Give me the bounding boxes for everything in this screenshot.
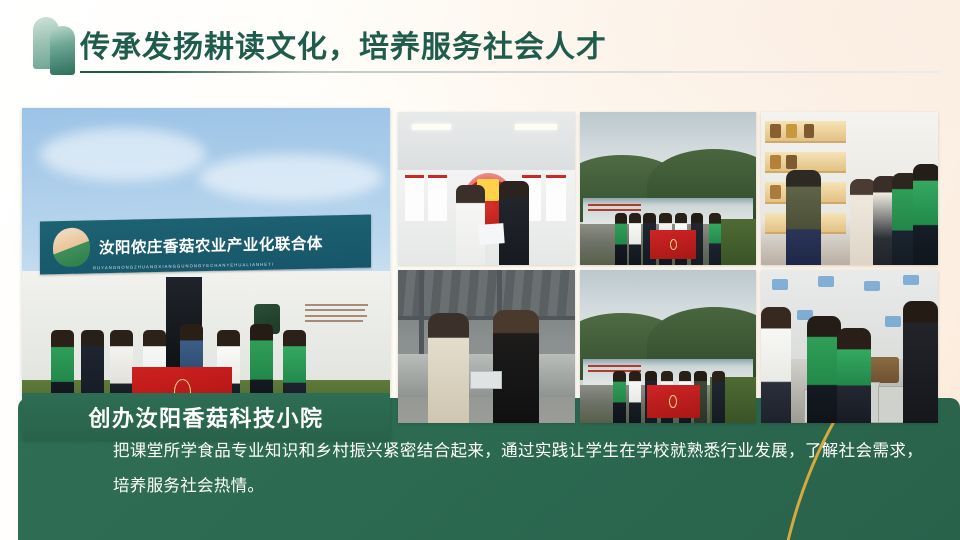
photo-person — [493, 310, 539, 423]
product-item — [786, 155, 797, 169]
photo-shed-text — [588, 365, 641, 367]
photo-party-wall-ceremony[interactable] — [398, 112, 575, 265]
double-bar-icon — [33, 17, 77, 75]
photo-person — [903, 301, 938, 423]
photo-banner-emblem — [670, 239, 677, 251]
ceiling-light — [515, 124, 557, 130]
wall-poster — [546, 175, 565, 221]
backdrop-logo — [864, 281, 880, 292]
photo-person — [613, 371, 625, 423]
cloud — [199, 154, 383, 200]
backdrop-logo — [818, 276, 834, 287]
photo-person — [913, 164, 938, 265]
photo-person — [807, 316, 841, 423]
photo-red-banner — [647, 385, 700, 419]
photo-warehouse-handover[interactable] — [398, 270, 575, 423]
main-photo[interactable]: 汝阳侬庄香菇农业产业化联合体 RUYANGNONGZHUANGXIANGGUNO… — [22, 108, 390, 440]
photo-person — [712, 371, 724, 423]
product-item — [786, 124, 797, 138]
photo-person — [629, 371, 641, 423]
photo-person — [786, 170, 821, 265]
photo-signboard: 汝阳侬庄香菇农业产业化联合体 RUYANGNONGZHUANGXIANGGUNO… — [40, 214, 371, 274]
photo-red-banner — [650, 230, 696, 259]
photo-signboard-text: 汝阳侬庄香菇农业产业化联合体 — [99, 231, 323, 258]
backdrop-logo — [885, 316, 901, 327]
photo-grid — [398, 112, 938, 423]
main-photo-caption-text: 创办汝阳香菇科技小院 — [88, 401, 323, 433]
page-header: 传承发扬耕读文化，培养服务社会人才 — [0, 0, 960, 96]
backdrop-logo — [772, 279, 788, 290]
photo-banner-emblem — [669, 395, 677, 408]
title-underline — [80, 71, 940, 73]
photo-mountain-group-banner-2[interactable] — [580, 270, 757, 423]
backdrop-logo — [903, 275, 919, 286]
product-item — [770, 185, 781, 199]
page-title: 传承发扬耕读文化，培养服务社会人才 — [80, 22, 607, 66]
product-item — [770, 155, 781, 169]
photo-mascot-icon — [54, 227, 90, 266]
photo-ceiling — [398, 112, 575, 170]
structural-beam — [398, 316, 575, 321]
photo-person — [761, 307, 791, 423]
main-photo-caption: 创办汝阳香菇科技小院 — [22, 393, 390, 440]
photo-person — [709, 213, 721, 265]
photo-sample-box — [470, 371, 502, 389]
photo-person — [615, 213, 627, 265]
photo-person — [629, 213, 641, 265]
footer-body-text: 把课堂所学食品专业知识和乡村振兴紧密结合起来，通过实践让学生在学校就熟悉行业发展… — [113, 434, 923, 504]
photo-person — [428, 313, 469, 423]
photo-wall-text — [305, 304, 368, 326]
product-item — [804, 124, 815, 138]
photo-crates-inspection[interactable] — [761, 270, 938, 423]
photo-person — [499, 181, 529, 265]
wall-poster — [405, 175, 424, 221]
photo-mountain-group-banner[interactable] — [580, 112, 757, 265]
photo-document — [479, 223, 505, 245]
photo-signboard-pinyin: RUYANGNONGZHUANGXIANGGUNONGYECHANYEHUALI… — [93, 261, 274, 270]
photo-shed-text — [588, 204, 641, 206]
ceiling-light — [412, 124, 451, 130]
photo-product-showroom[interactable] — [761, 112, 938, 265]
wall-poster — [428, 175, 447, 221]
photo-roof — [398, 270, 575, 316]
icon-bar-front — [50, 26, 75, 75]
photo-person — [837, 328, 871, 423]
cloud — [40, 128, 206, 181]
product-item — [770, 124, 781, 138]
